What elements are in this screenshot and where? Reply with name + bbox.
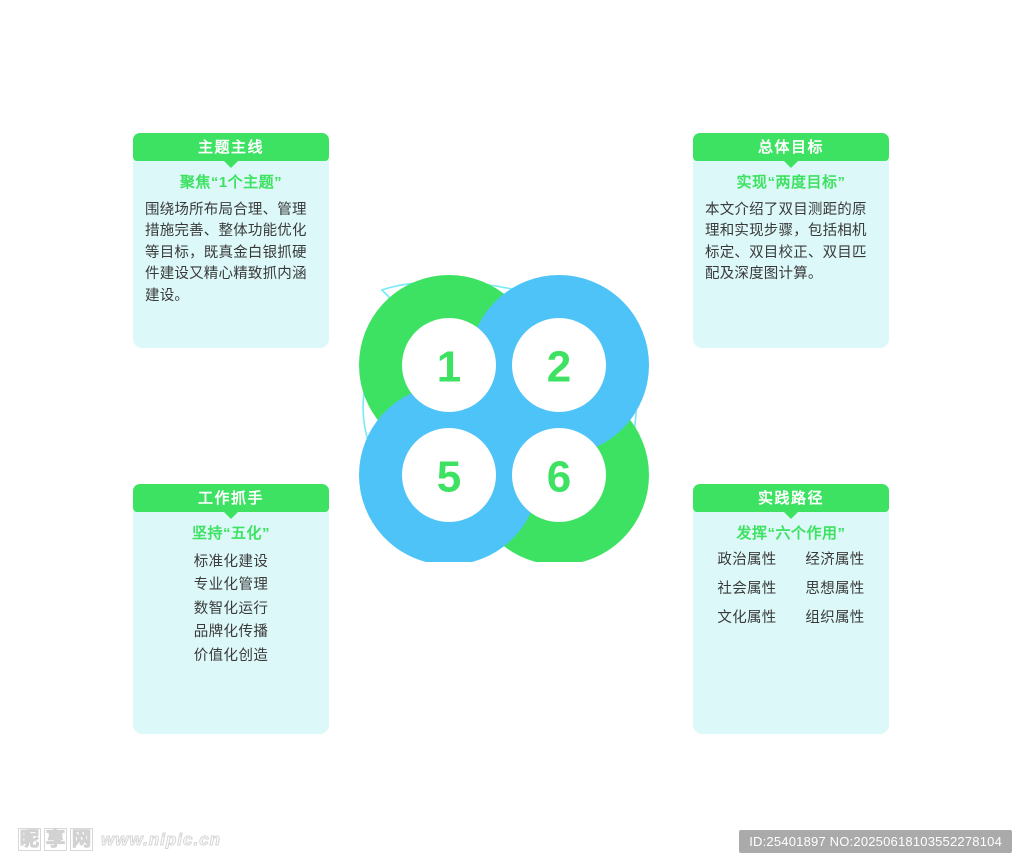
- center-ring-diagram: 1 2 5 6: [352, 272, 662, 562]
- card-work-grip: 工作抓手 坚持“五化” 标准化建设 专业化管理 数智化运行 品牌化传播 价值化创…: [133, 484, 329, 734]
- grid-item: 政治属性: [705, 551, 789, 570]
- image-id-badge: ID:25401897 NO:20250618103552278104: [739, 830, 1012, 853]
- list-item: 标准化建设: [145, 551, 317, 574]
- grid-item: 经济属性: [793, 551, 877, 570]
- card-header-theme-mainline: 主题主线: [133, 133, 329, 161]
- card-subtitle: 坚持“五化”: [145, 525, 317, 543]
- card-header-title: 工作抓手: [198, 491, 264, 506]
- ring-6-number: 6: [547, 453, 571, 502]
- card-header-overall-goal: 总体目标: [693, 133, 889, 161]
- card-subtitle: 发挥“六个作用”: [705, 525, 877, 543]
- watermark-url: www.nipic.cn: [101, 830, 221, 850]
- card-paragraph: 围绕场所布局合理、管理措施完善、整体功能优化等目标，既真金白银抓硬件建设又精心精…: [145, 200, 317, 307]
- card-practice-path: 实践路径 发挥“六个作用” 政治属性 经济属性 社会属性 思想属性 文化属性 组…: [693, 484, 889, 734]
- card-attribute-grid: 政治属性 经济属性 社会属性 思想属性 文化属性 组织属性: [705, 551, 877, 628]
- grid-item: 思想属性: [793, 580, 877, 599]
- card-header-work-grip: 工作抓手: [133, 484, 329, 512]
- card-subtitle: 聚焦“1个主题”: [145, 174, 317, 192]
- list-item: 数智化运行: [145, 598, 317, 621]
- card-item-list: 标准化建设 专业化管理 数智化运行 品牌化传播 价值化创造: [145, 551, 317, 668]
- list-item: 品牌化传播: [145, 621, 317, 644]
- list-item: 专业化管理: [145, 574, 317, 597]
- watermark-logo: 昵 享 网: [18, 828, 93, 851]
- card-overall-goal: 总体目标 实现“两度目标” 本文介绍了双目测距的原理和实现步骤，包括相机标定、双…: [693, 133, 889, 348]
- card-subtitle: 实现“两度目标”: [705, 174, 877, 192]
- grid-item: 文化属性: [705, 609, 789, 628]
- watermark-logo-char: 网: [70, 828, 93, 851]
- site-watermark: 昵 享 网 www.nipic.cn: [18, 828, 221, 851]
- card-theme-mainline: 主题主线 聚焦“1个主题” 围绕场所布局合理、管理措施完善、整体功能优化等目标，…: [133, 133, 329, 348]
- card-body-work-grip: 坚持“五化” 标准化建设 专业化管理 数智化运行 品牌化传播 价值化创造: [133, 509, 329, 734]
- card-body-theme-mainline: 聚焦“1个主题” 围绕场所布局合理、管理措施完善、整体功能优化等目标，既真金白银…: [133, 158, 329, 348]
- card-body-practice-path: 发挥“六个作用” 政治属性 经济属性 社会属性 思想属性 文化属性 组织属性: [693, 509, 889, 734]
- card-header-title: 总体目标: [758, 140, 824, 155]
- grid-item: 社会属性: [705, 580, 789, 599]
- card-header-practice-path: 实践路径: [693, 484, 889, 512]
- ring-5-number: 5: [437, 453, 461, 502]
- card-header-title: 实践路径: [758, 491, 824, 506]
- grid-item: 组织属性: [793, 609, 877, 628]
- card-paragraph: 本文介绍了双目测距的原理和实现步骤，包括相机标定、双目校正、双目匹配及深度图计算…: [705, 200, 877, 286]
- watermark-logo-char: 享: [44, 828, 67, 851]
- ring-2-number: 2: [547, 343, 571, 392]
- watermark-logo-char: 昵: [18, 828, 41, 851]
- card-body-overall-goal: 实现“两度目标” 本文介绍了双目测距的原理和实现步骤，包括相机标定、双目校正、双…: [693, 158, 889, 348]
- list-item: 价值化创造: [145, 645, 317, 668]
- card-header-title: 主题主线: [198, 140, 264, 155]
- ring-1-number: 1: [437, 343, 461, 392]
